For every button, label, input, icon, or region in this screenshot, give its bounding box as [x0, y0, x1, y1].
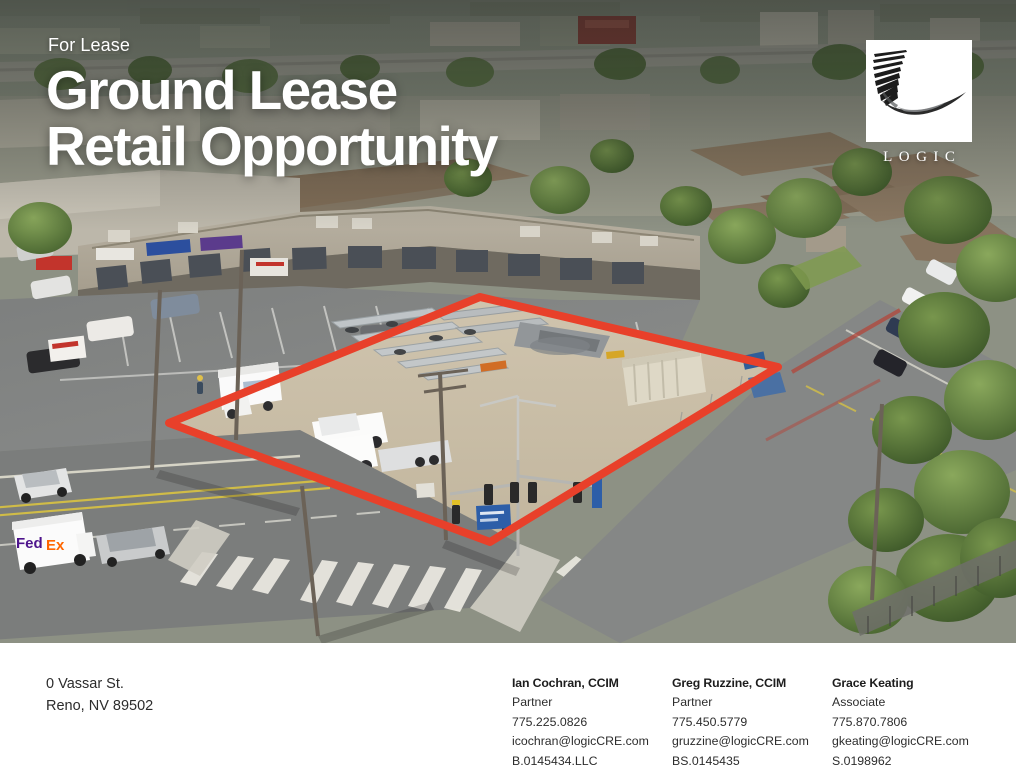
- footer: 0 Vassar St. Reno, NV 89502 Ian Cochran,…: [0, 643, 1016, 783]
- contact-title: Associate: [832, 693, 1007, 712]
- contact-name: Grace Keating: [832, 674, 1007, 693]
- hero-headline-block: For Lease Ground Lease Retail Opportunit…: [46, 36, 497, 174]
- contact-title: Partner: [672, 693, 832, 712]
- contact-email[interactable]: gruzzine@logicCRE.com: [672, 732, 832, 751]
- logo-box: [866, 40, 972, 142]
- svg-text:Ex: Ex: [46, 537, 65, 554]
- contact-card: Ian Cochran, CCIM Partner 775.225.0826 i…: [512, 674, 672, 771]
- contact-email[interactable]: icochran@logicCRE.com: [512, 732, 672, 751]
- lease-flyer: Fed Ex: [0, 0, 1016, 783]
- contact-license: S.0198962: [832, 752, 1007, 771]
- contact-card: Greg Ruzzine, CCIM Partner 775.450.5779 …: [672, 674, 832, 771]
- contact-license: B.0145434.LLC: [512, 752, 672, 771]
- logo-wordmark: LOGIC: [866, 149, 972, 166]
- contact-name: Greg Ruzzine, CCIM: [672, 674, 832, 693]
- logic-logo[interactable]: LOGIC: [866, 40, 972, 166]
- aerial-photo: Fed Ex: [0, 0, 1016, 643]
- address-line-2: Reno, NV 89502: [46, 695, 153, 717]
- title-line-1: Ground Lease: [46, 59, 397, 121]
- contact-phone[interactable]: 775.450.5779: [672, 713, 832, 732]
- contact-phone[interactable]: 775.870.7806: [832, 713, 1007, 732]
- contact-email[interactable]: gkeating@logicCRE.com: [832, 732, 1007, 751]
- contact-card: Grace Keating Associate 775.870.7806 gke…: [832, 674, 1007, 771]
- contact-license: BS.0145435: [672, 752, 832, 771]
- logic-brush-mark-icon: [866, 40, 972, 142]
- contact-title: Partner: [512, 693, 672, 712]
- property-address: 0 Vassar St. Reno, NV 89502: [46, 673, 153, 718]
- contact-list: Ian Cochran, CCIM Partner 775.225.0826 i…: [512, 674, 1007, 771]
- contact-name: Ian Cochran, CCIM: [512, 674, 672, 693]
- eyebrow-label: For Lease: [48, 36, 497, 54]
- contact-phone[interactable]: 775.225.0826: [512, 713, 672, 732]
- title-line-2: Retail Opportunity: [46, 118, 497, 174]
- page-title: Ground Lease Retail Opportunity: [46, 62, 497, 174]
- svg-text:Fed: Fed: [16, 535, 43, 552]
- address-line-1: 0 Vassar St.: [46, 673, 153, 695]
